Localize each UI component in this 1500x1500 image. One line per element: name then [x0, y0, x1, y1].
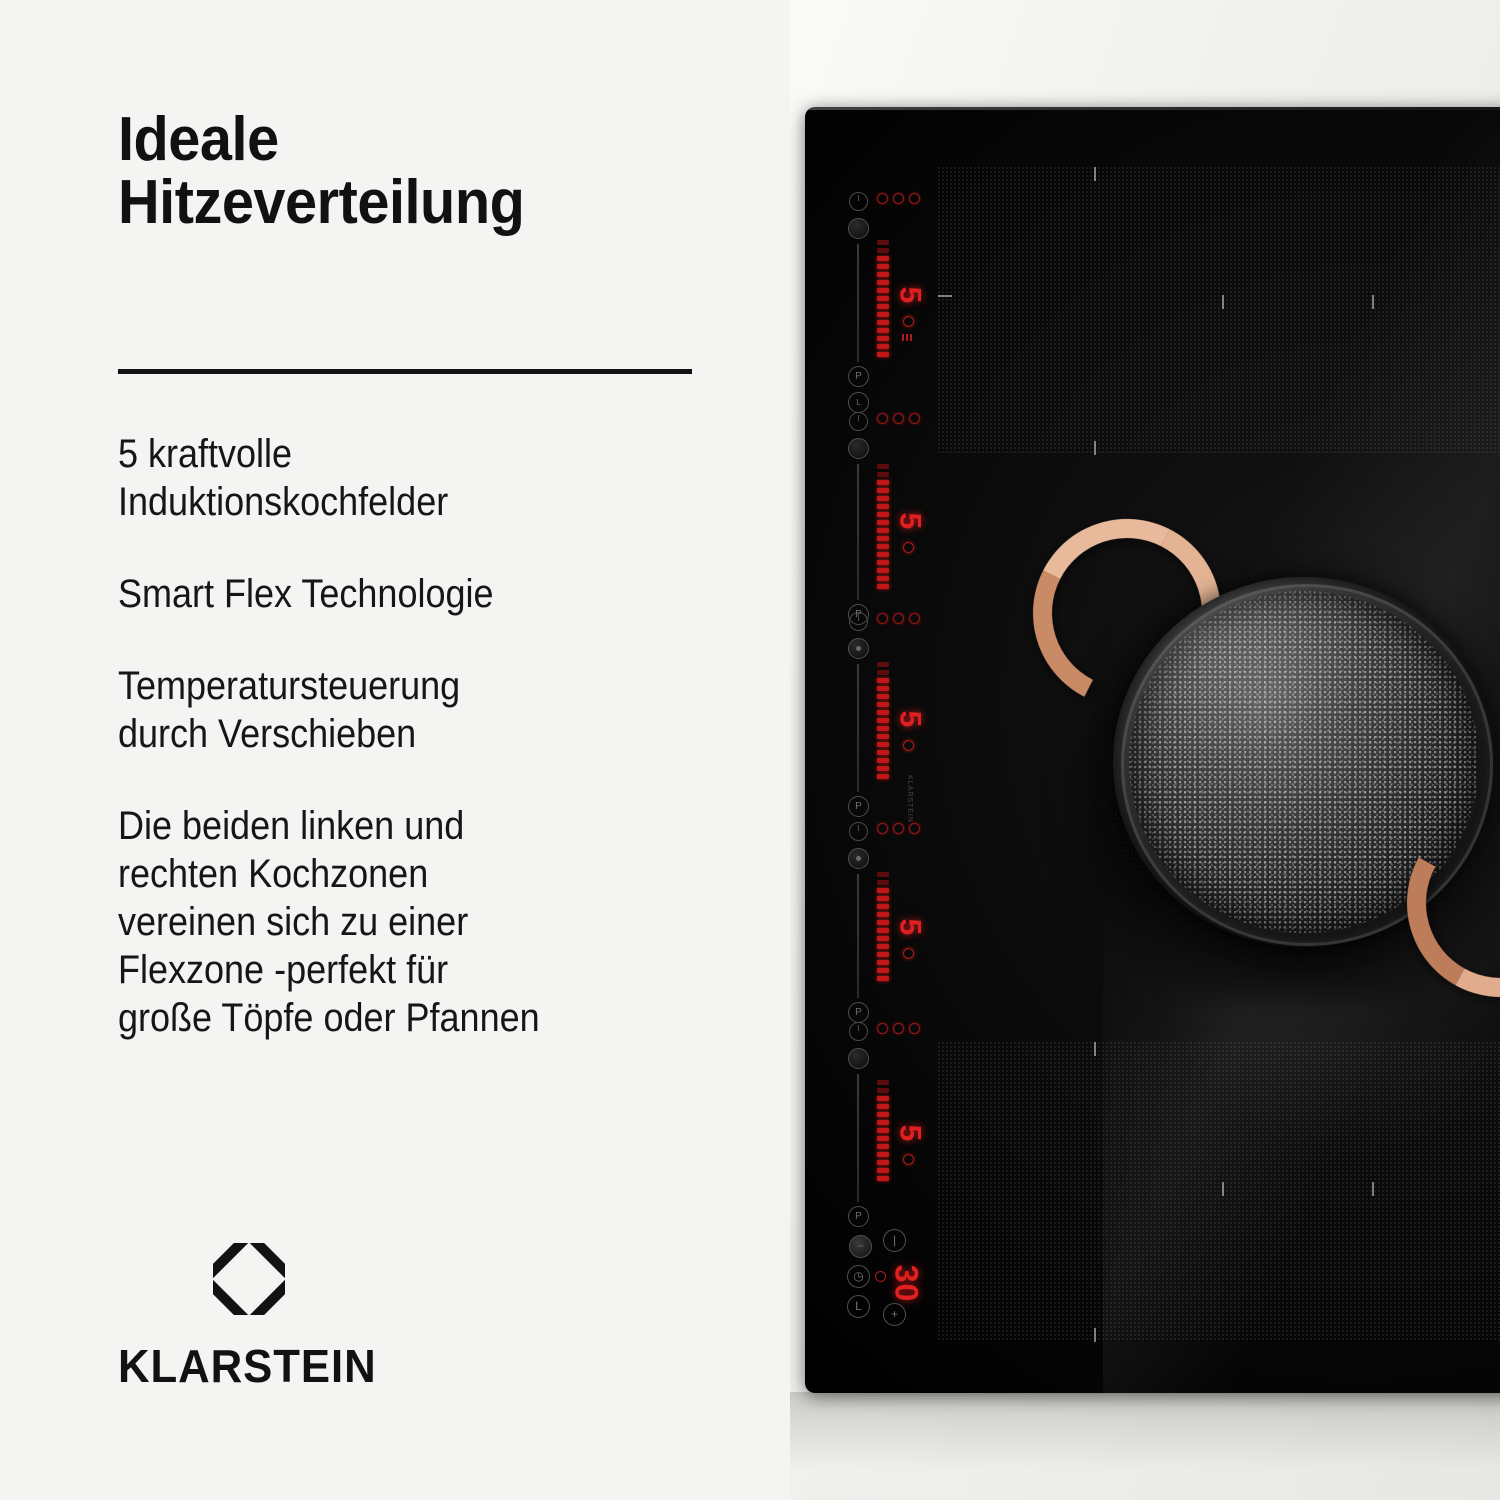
- timer-display: 30: [887, 1265, 924, 1303]
- heat-indicator-icon: [903, 1154, 914, 1165]
- hob-brand-etching: KLARSTEIN: [906, 775, 913, 823]
- zone-tick: [1372, 295, 1374, 309]
- feature-list: 5 kraftvolle Induktionskochfelder Smart …: [118, 430, 738, 1042]
- timer-down-button[interactable]: −: [849, 1235, 872, 1258]
- p-button[interactable]: P: [848, 1002, 869, 1023]
- feature-item-2: Smart Flex Technologie: [118, 570, 676, 618]
- hob-top-edge: [805, 107, 1500, 110]
- p-button[interactable]: P: [848, 1206, 869, 1227]
- zone-indicator-icon: [877, 1023, 888, 1034]
- power-level-display: 5: [892, 919, 926, 936]
- feature-item-4: Die beiden linken und rechten Kochzonen …: [118, 802, 676, 1042]
- zone-indicator-icon: [893, 1023, 904, 1034]
- power-icon[interactable]: [849, 412, 868, 431]
- slider-knob[interactable]: [848, 218, 869, 239]
- brand-logo: KLARSTEIN: [118, 1243, 448, 1393]
- slider-rail[interactable]: [857, 244, 859, 362]
- slider-knob[interactable]: [848, 848, 869, 869]
- zone-indicator-group: [877, 193, 920, 204]
- divider-rule: [118, 369, 692, 374]
- klarstein-octagon-icon: [213, 1243, 285, 1315]
- power-level-display: 5: [892, 287, 926, 304]
- product-photo: 5 P L 5 P: [790, 0, 1500, 1500]
- heat-indicator-icon: [903, 740, 914, 751]
- power-level-display: 5: [892, 513, 926, 530]
- timer-clock-button[interactable]: ◷: [847, 1265, 870, 1288]
- zone-indicator-icon: [909, 613, 920, 624]
- zone-indicator-icon: [909, 1023, 920, 1034]
- zone-tick: [1094, 167, 1096, 181]
- slider-knob[interactable]: [848, 1048, 869, 1069]
- slider-rail[interactable]: [857, 1074, 859, 1202]
- countertop-shadow: [790, 1392, 1500, 1500]
- cook-zone-bottom[interactable]: [938, 1042, 1500, 1342]
- slider-rail[interactable]: [857, 874, 859, 998]
- zone-indicator-icon: [909, 413, 920, 424]
- slider-leds: [877, 240, 889, 357]
- induction-hob-glass: 5 P L 5 P: [805, 107, 1500, 1393]
- zone-indicator-icon: [877, 823, 888, 834]
- diamond-cutout: [212, 1242, 286, 1316]
- heat-indicator-icon: [903, 316, 914, 327]
- power-icon[interactable]: [849, 822, 868, 841]
- zone-tick: [1094, 441, 1096, 455]
- headline-line-2: Hitzeverteilung: [118, 171, 713, 234]
- lock-button[interactable]: L: [848, 392, 869, 413]
- zone-tick: [1094, 1328, 1096, 1342]
- zone-indicator-icon: [877, 613, 888, 624]
- zone-indicator-group: [877, 413, 920, 424]
- zone-tick: [1094, 1042, 1096, 1056]
- slider-knob[interactable]: [848, 438, 869, 459]
- zone-indicator-group: [877, 1023, 920, 1034]
- power-icon[interactable]: [849, 612, 868, 631]
- child-lock-button[interactable]: L: [847, 1295, 870, 1318]
- zone-indicator-icon: [909, 193, 920, 204]
- heat-indicator-icon: [903, 948, 914, 959]
- slider-rail[interactable]: [857, 664, 859, 792]
- power-icon[interactable]: [849, 192, 868, 211]
- slider-leds: [877, 872, 889, 981]
- power-button[interactable]: |: [883, 1229, 906, 1252]
- heat-indicator-icon: [903, 542, 914, 553]
- p-button[interactable]: P: [848, 796, 869, 817]
- power-icon[interactable]: [849, 1022, 868, 1041]
- zone-indicator-icon: [909, 823, 920, 834]
- headline-line-1: Ideale: [118, 105, 279, 174]
- zone-indicator-icon: [877, 413, 888, 424]
- zone-tick: [938, 295, 952, 297]
- slider-leds: [877, 1080, 889, 1181]
- feature-item-3: Temperatursteuerung durch Verschieben: [118, 662, 676, 758]
- zone-indicator-icon: [893, 193, 904, 204]
- marketing-slide: Ideale Hitzeverteilung 5 kraftvolle Indu…: [0, 0, 1500, 1500]
- slider-knob[interactable]: [848, 638, 869, 659]
- feature-item-1: 5 kraftvolle Induktionskochfelder: [118, 430, 676, 526]
- brand-wordmark: KLARSTEIN: [118, 1339, 432, 1393]
- p-button[interactable]: P: [848, 366, 869, 387]
- zone-tick: [1372, 1182, 1374, 1196]
- zone-indicator-icon: [877, 193, 888, 204]
- power-level-display: 5: [892, 1125, 926, 1142]
- timer-control-panel[interactable]: − | ◷ 30 L +: [835, 1227, 955, 1342]
- glass-lid-pot: [1085, 537, 1500, 997]
- zone-indicator-group: [877, 823, 920, 834]
- cook-zone-top[interactable]: [938, 167, 1500, 455]
- zone-indicator-icon: [893, 823, 904, 834]
- timer-active-indicator-icon: [875, 1271, 886, 1282]
- power-level-display: 5: [892, 711, 926, 728]
- zone-indicator-icon: [893, 413, 904, 424]
- timer-up-button[interactable]: +: [883, 1303, 906, 1326]
- zone-tick: [1222, 295, 1224, 309]
- zone-indicator-group: [877, 613, 920, 624]
- page-title: Ideale Hitzeverteilung: [118, 108, 713, 234]
- zone-tick: [1222, 1182, 1224, 1196]
- slider-leds: [877, 662, 889, 779]
- slider-rail[interactable]: [857, 464, 859, 600]
- boost-indicator-icon: [902, 334, 913, 341]
- slider-leds: [877, 464, 889, 589]
- zone-indicator-icon: [893, 613, 904, 624]
- text-column: Ideale Hitzeverteilung 5 kraftvolle Indu…: [0, 0, 790, 1500]
